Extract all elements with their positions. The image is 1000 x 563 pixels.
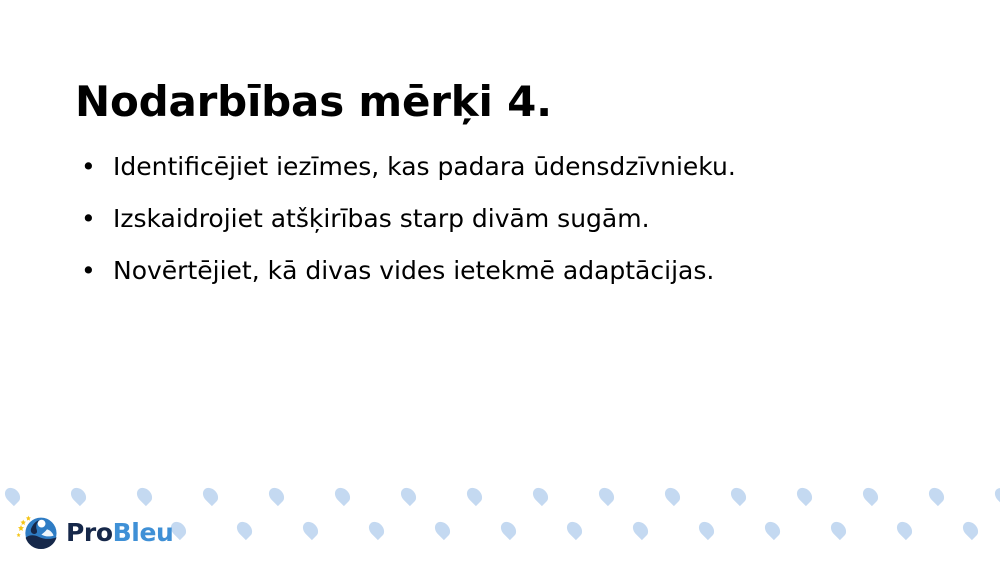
droplet-icon	[596, 485, 617, 506]
logo-wordmark: ProBleu	[66, 520, 173, 545]
bullet-icon: •	[81, 198, 95, 240]
objectives-list: • Identificējiet iezīmes, kas padara ūde…	[75, 146, 935, 302]
logo-text-bleu: Bleu	[113, 518, 174, 547]
droplet-icon	[134, 485, 155, 506]
droplet-icon	[662, 485, 683, 506]
logo-text-pro: Pro	[66, 518, 113, 547]
droplet-icon	[530, 485, 551, 506]
list-item: • Identificējiet iezīmes, kas padara ūde…	[75, 146, 935, 188]
droplet-icon	[860, 485, 881, 506]
globe-swirl-icon	[16, 511, 58, 553]
droplet-icon	[432, 519, 453, 540]
droplet-icon	[332, 485, 353, 506]
droplet-icon	[630, 519, 651, 540]
problem-logo: ProBleu	[16, 510, 173, 554]
list-item-label: Izskaidrojiet atšķirības starp divām sug…	[113, 204, 650, 233]
droplet-icon	[728, 485, 749, 506]
droplet-icon	[794, 485, 815, 506]
droplet-icon	[398, 485, 419, 506]
droplet-icon	[894, 519, 915, 540]
droplet-icon	[828, 519, 849, 540]
droplet-icon	[200, 485, 221, 506]
list-item: • Izskaidrojiet atšķirības starp divām s…	[75, 198, 935, 240]
slide: Nodarbības mērķi 4. • Identificējiet iez…	[0, 0, 1000, 563]
droplet-icon	[68, 485, 89, 506]
droplet-icon	[300, 519, 321, 540]
droplet-icon	[926, 485, 947, 506]
droplet-icon	[266, 485, 287, 506]
droplet-icon	[234, 519, 255, 540]
droplet-icon	[366, 519, 387, 540]
bullet-icon: •	[81, 250, 95, 292]
list-item-label: Identificējiet iezīmes, kas padara ūdens…	[113, 152, 736, 181]
bullet-icon: •	[81, 146, 95, 188]
droplet-icon	[762, 519, 783, 540]
list-item-label: Novērtējiet, kā divas vides ietekmē adap…	[113, 256, 714, 285]
droplet-icon	[2, 485, 23, 506]
page-title: Nodarbības mērķi 4.	[75, 78, 935, 126]
droplet-icon	[464, 485, 485, 506]
list-item: • Novērtējiet, kā divas vides ietekmē ad…	[75, 250, 935, 292]
droplet-icon	[564, 519, 585, 540]
droplet-icon	[992, 485, 1000, 506]
droplet-icon	[696, 519, 717, 540]
droplet-icon	[960, 519, 981, 540]
droplet-icon	[498, 519, 519, 540]
